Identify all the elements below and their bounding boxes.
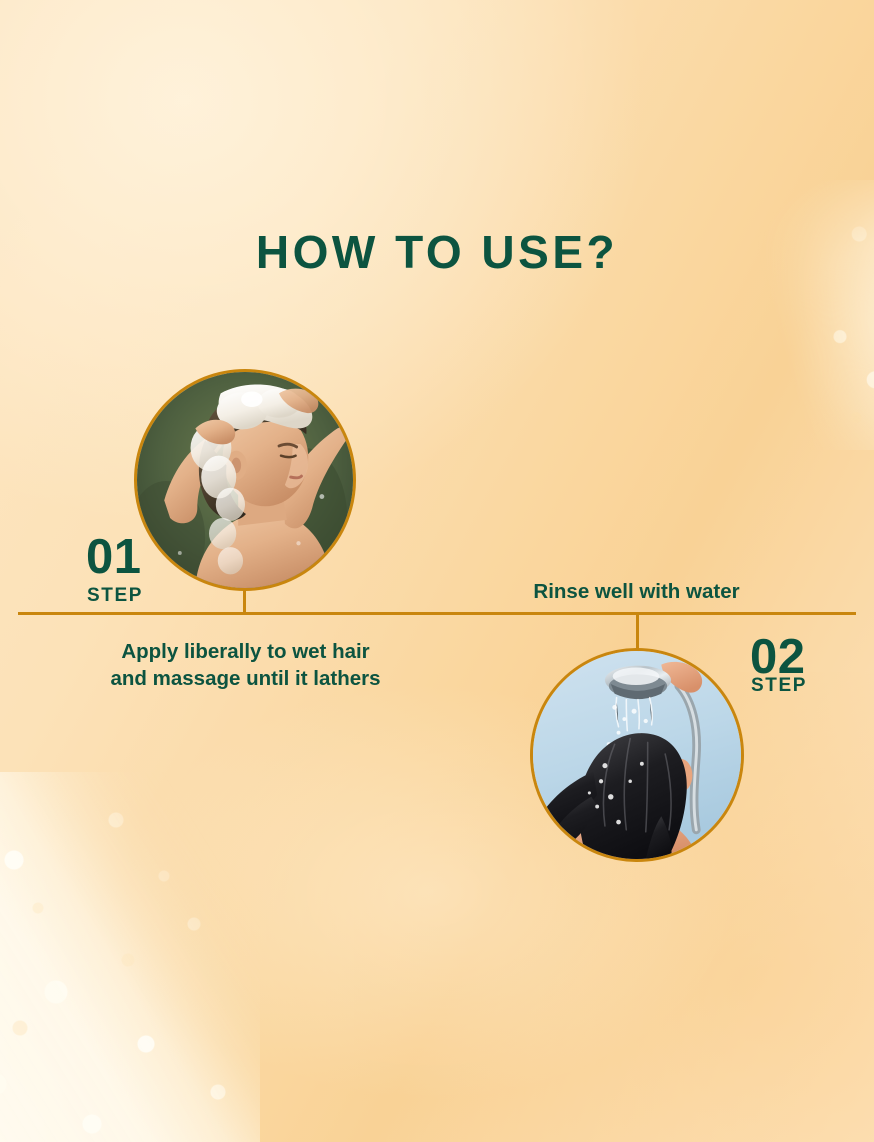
how-to-use-poster: HOW TO USE? <box>0 0 874 1142</box>
step-1-caption-line-2: and massage until it lathers <box>18 665 473 692</box>
step-1-photo <box>134 369 356 591</box>
step-1-number: 01 <box>86 533 142 582</box>
step-2-caption-line-1: Rinse well with water <box>400 578 873 605</box>
foam-texture-right-edge <box>744 180 874 450</box>
step-2-word: STEP <box>751 676 807 695</box>
step-2-caption: Rinse well with water <box>400 578 873 605</box>
step-1-word: STEP <box>87 586 143 605</box>
step-1-caption-line-1: Apply liberally to wet hair <box>18 638 473 665</box>
foam-texture-bottom-left <box>0 772 260 1142</box>
page-title: HOW TO USE? <box>0 229 874 275</box>
timeline-axis <box>18 612 856 615</box>
step-2-photo <box>530 648 744 862</box>
step-1-caption: Apply liberally to wet hair and massage … <box>18 638 473 692</box>
